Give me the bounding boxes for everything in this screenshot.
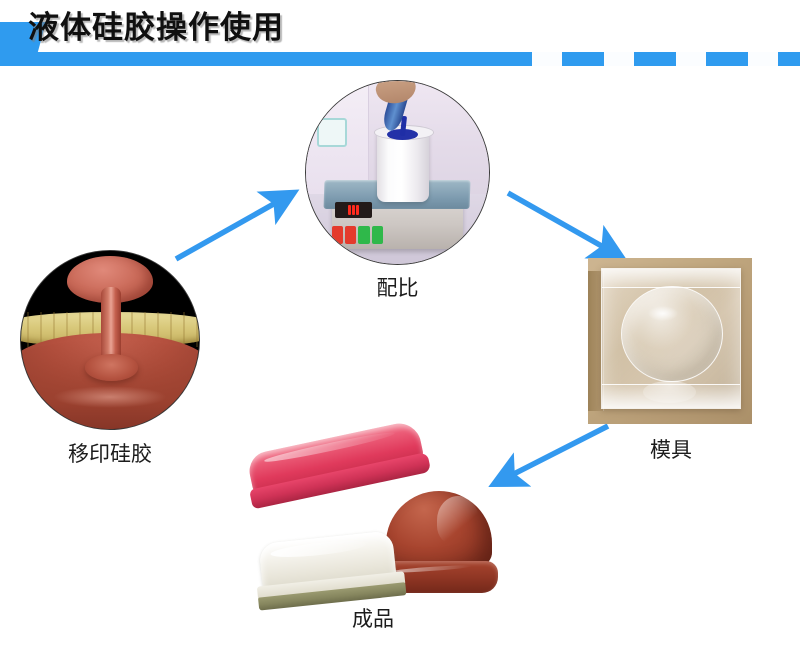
- cavity-highlight: [648, 306, 678, 321]
- node-label-mixing: 配比: [305, 272, 490, 302]
- cavity-base-reflection: [643, 381, 695, 403]
- acrylic-block: [601, 268, 741, 409]
- node-label-products: 成品: [228, 603, 518, 633]
- header-dashed-segment: [490, 52, 800, 66]
- page-title: 液体硅胶操作使用: [28, 6, 284, 50]
- arrow-mix-to-mold: [500, 185, 630, 265]
- hemisphere-cavity: [621, 286, 722, 383]
- silicone-splash: [85, 354, 138, 381]
- photo-silicone-pouring: [20, 250, 200, 430]
- photo-acrylic-mold: [588, 258, 752, 424]
- page-root: { "header": { "title": "液体硅胶操作使用", "acce…: [0, 0, 800, 650]
- node-label-silicone: 移印硅胶: [20, 438, 200, 468]
- process-node-silicone: 移印硅胶: [20, 250, 200, 430]
- silicone-gloss-highlight: [53, 386, 167, 407]
- scale-buttons: [332, 226, 383, 244]
- process-node-mold: 模具: [588, 258, 754, 424]
- wall-panel: [317, 118, 347, 148]
- process-node-mixing: 配比: [305, 80, 490, 265]
- process-node-products: 成品: [228, 425, 518, 635]
- node-label-mold: 模具: [588, 434, 754, 464]
- page-header: 液体硅胶操作使用: [0, 0, 800, 72]
- scale-display: [335, 202, 372, 218]
- photo-mixing-on-scale: [305, 80, 490, 265]
